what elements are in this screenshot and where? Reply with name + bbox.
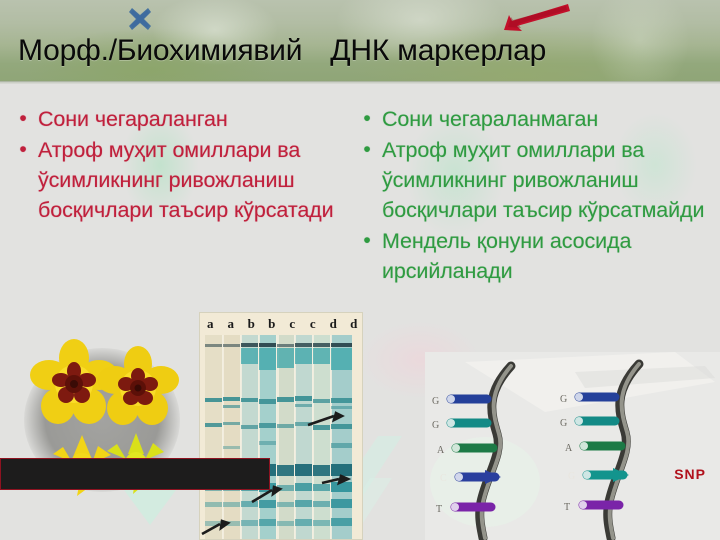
- bullet-text: Атроф муҳит омиллари ва ўсимликнинг риво…: [382, 135, 720, 225]
- bullet-text: Сони чегараланган: [38, 104, 356, 134]
- gel-lane-label: c: [282, 314, 303, 334]
- list-item: • Сони чегараланмаган: [352, 104, 720, 134]
- bullet-text: Мендель қонуни асосида ирсийланади: [382, 226, 720, 286]
- dna-base-label-left-4: C: [440, 473, 447, 484]
- bullet-marker: •: [352, 135, 382, 165]
- dna-base-label-left-3: A: [437, 445, 444, 456]
- gel-lane-label: b: [241, 314, 262, 334]
- dna-base-label-right-3: A: [565, 443, 572, 454]
- gel-lane-label: c: [303, 314, 324, 334]
- bullet-marker: •: [352, 104, 382, 134]
- list-item: • Сони чегараланган: [8, 104, 356, 134]
- dna-base-label-right-4: G: [568, 471, 575, 482]
- dna-base-label-right-1: G: [560, 394, 567, 405]
- dna-base-label-right-2: G: [560, 418, 567, 429]
- snp-highlight-band: [0, 458, 270, 490]
- gel-lane-labels: a a b b c c d d: [200, 314, 363, 334]
- gel-lane-label: d: [323, 314, 344, 334]
- gel-lane-label: a: [221, 314, 242, 334]
- page-title-right: ДНК маркерлар: [330, 34, 546, 68]
- gel-electrophoresis-photo: a a b b c c d d: [199, 312, 363, 540]
- bullet-column-right: • Сони чегараланмаган • Атроф муҳит омил…: [352, 104, 720, 287]
- bullet-text: Атроф муҳит омиллари ва ўсимликнинг риво…: [38, 135, 356, 225]
- dna-base-label-left-5: T: [436, 504, 442, 515]
- list-item: • Атроф муҳит омиллари ва ўсимликнинг ри…: [8, 135, 356, 225]
- red-arrow-icon: [500, 2, 572, 34]
- dna-snp-diagram: [425, 352, 720, 540]
- title-row: Морф./Биохимиявий ДНК маркерлар: [0, 34, 720, 80]
- list-item: • Атроф муҳит омиллари ва ўсимликнинг ри…: [352, 135, 720, 225]
- bullet-column-left: • Сони чегараланган • Атроф муҳит омилла…: [8, 104, 356, 226]
- list-item: • Мендель қонуни асосида ирсийланади: [352, 226, 720, 286]
- bullet-marker: •: [8, 135, 38, 165]
- bullet-text: Сони чегараланмаган: [382, 104, 720, 134]
- gel-lane-label: b: [262, 314, 283, 334]
- dna-base-label-right-5: T: [564, 502, 570, 513]
- snp-label: SNP: [674, 466, 706, 482]
- dna-base-label-left-2: G: [432, 420, 439, 431]
- header-divider: [0, 81, 720, 84]
- gel-lane-label: a: [200, 314, 221, 334]
- bullet-marker: •: [8, 104, 38, 134]
- bullet-marker: •: [352, 226, 382, 256]
- blue-cross-icon: [126, 5, 154, 33]
- page-title-left: Морф./Биохимиявий: [18, 34, 302, 68]
- gel-lane-label: d: [344, 314, 364, 334]
- gel-image: [200, 313, 363, 540]
- dna-base-label-left-1: G: [432, 396, 439, 407]
- slide-canvas: Морф./Биохимиявий ДНК маркерлар • Сони ч…: [0, 0, 720, 540]
